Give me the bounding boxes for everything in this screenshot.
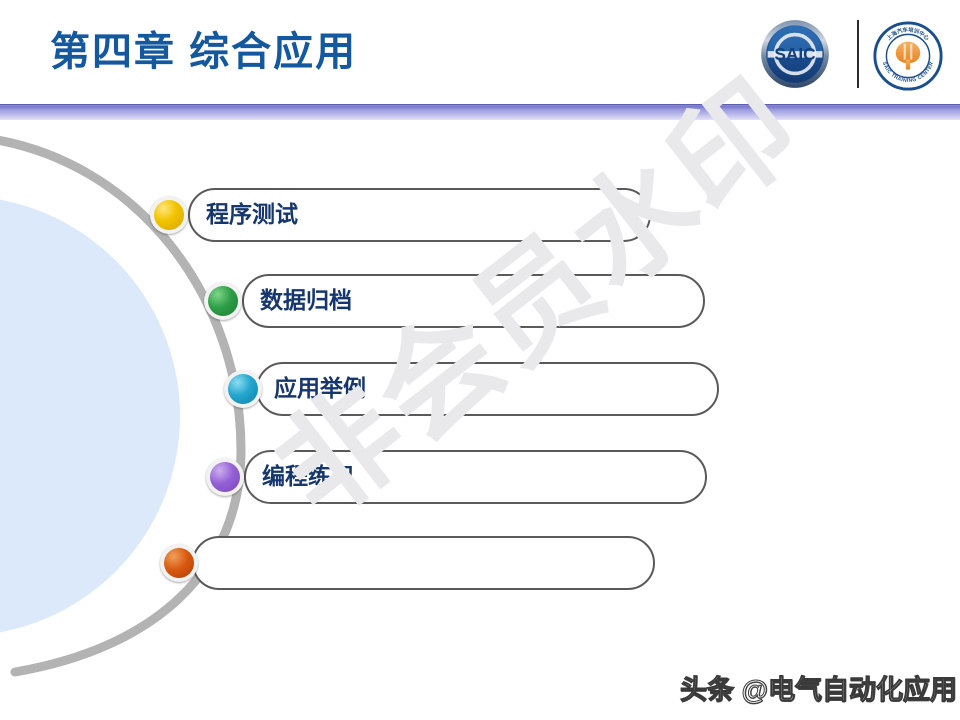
bullet-orange[interactable]	[160, 544, 198, 582]
agenda-item-label: 程序测试	[206, 188, 298, 242]
bullet-cyan[interactable]	[224, 370, 262, 408]
saic-training-center-logo: 上海汽车培训中心 SAIC TRAINING CENTER	[872, 20, 944, 92]
slide-header: 第四章 综合应用	[0, 0, 960, 105]
slide-canvas: 第四章 综合应用	[0, 0, 960, 720]
saic-logo: SAIC	[752, 18, 838, 90]
svg-text:SAIC: SAIC	[774, 44, 815, 64]
bullet-yellow-ball	[154, 200, 184, 230]
bullet-purple[interactable]	[206, 458, 244, 496]
agenda-pill[interactable]	[192, 536, 655, 590]
agenda-item-label: 编程练习	[262, 450, 354, 504]
logo-divider	[857, 20, 859, 88]
logo-group: SAIC	[752, 14, 952, 94]
header-accent-rule	[0, 105, 960, 120]
bullet-orange-ball	[164, 548, 194, 578]
bullet-green-ball	[208, 286, 238, 316]
bullet-yellow[interactable]	[150, 196, 188, 234]
bottom-watermark: 头条 @电气自动化应用	[680, 668, 957, 707]
bullet-cyan-ball	[228, 374, 258, 404]
page-title: 第四章 综合应用	[50, 24, 357, 80]
bullet-green[interactable]	[204, 282, 242, 320]
agenda-item-label: 应用举例	[274, 362, 366, 416]
agenda-item-label: 数据归档	[260, 274, 352, 328]
bullet-purple-ball	[210, 462, 240, 492]
